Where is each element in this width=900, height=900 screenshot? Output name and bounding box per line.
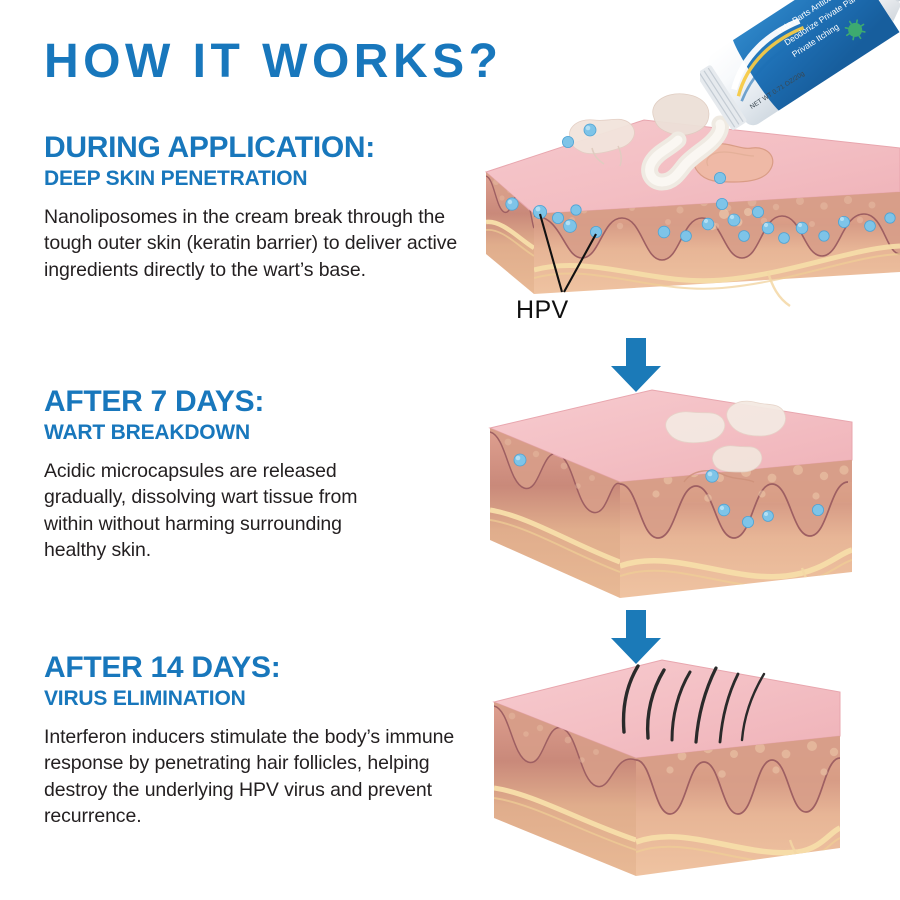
page-title: HOW IT WORKS? bbox=[44, 38, 502, 86]
section-3-subheading: VIRUS ELIMINATION bbox=[44, 687, 474, 711]
section-3-heading: AFTER 14 DAYS: bbox=[44, 652, 474, 683]
section-2-heading: AFTER 7 DAYS: bbox=[44, 386, 474, 417]
section-1-subheading: DEEP SKIN PENETRATION bbox=[44, 167, 474, 191]
product-tube: vate Parts Antibacterial Deodorize Priva… bbox=[700, 0, 900, 152]
section-during-application: DURING APPLICATION: DEEP SKIN PENETRATIO… bbox=[44, 132, 474, 283]
infographic-page: HOW IT WORKS? DURING APPLICATION: DEEP S… bbox=[0, 0, 900, 900]
section-after-7-days: AFTER 7 DAYS: WART BREAKDOWN Acidic micr… bbox=[44, 386, 474, 563]
section-2-body: Acidic microcapsules are released gradua… bbox=[44, 458, 374, 563]
section-after-14-days: AFTER 14 DAYS: VIRUS ELIMINATION Interfe… bbox=[44, 652, 474, 829]
section-1-heading: DURING APPLICATION: bbox=[44, 132, 474, 163]
skin-diagram-stage-3 bbox=[472, 648, 900, 883]
section-1-body: Nanoliposomes in the cream break through… bbox=[44, 204, 464, 282]
section-2-subheading: WART BREAKDOWN bbox=[44, 421, 474, 445]
skin-diagram-stage-2 bbox=[472, 382, 900, 607]
section-3-body: Interferon inducers stimulate the body’s… bbox=[44, 724, 464, 829]
hpv-callout-label: HPV bbox=[516, 296, 569, 325]
